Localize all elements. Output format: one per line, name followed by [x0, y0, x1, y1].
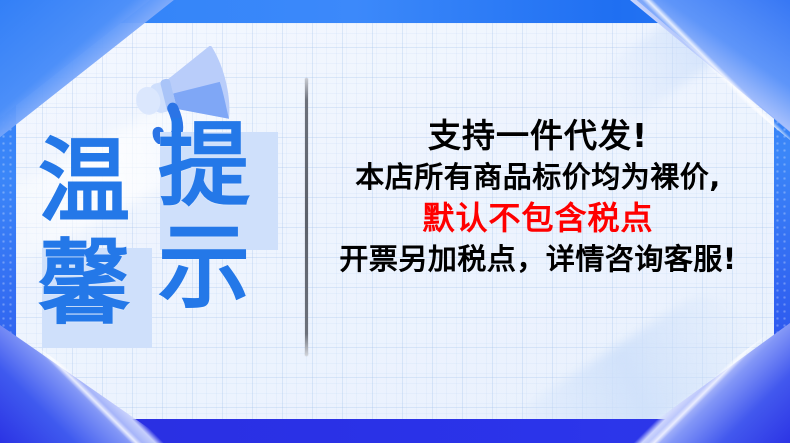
headline-group: 温 提 馨 示	[36, 120, 292, 352]
notice-line-invoice-contact: 开票另加税点，详情咨询客服!	[318, 239, 758, 279]
frame-left-rail	[0, 0, 16, 443]
frame-top-bar	[0, 0, 790, 23]
vertical-divider	[305, 78, 308, 356]
headline-char-shi: 示	[158, 222, 250, 314]
notice-line-base-price: 本店所有商品标价均为裸价,	[318, 157, 758, 197]
headline-char-xin-text: 馨	[38, 230, 130, 337]
headline-char-ti-text: 提	[158, 112, 250, 219]
frame-bottom-bar	[0, 419, 790, 443]
notice-line-dropship: 支持一件代发!	[318, 115, 758, 157]
headline-char-xin: 馨	[38, 238, 130, 330]
headline-char-shi-text: 示	[158, 214, 250, 321]
notice-text-block: 支持一件代发! 本店所有商品标价均为裸价, 默认不包含税点 开票另加税点，详情咨…	[318, 115, 758, 279]
headline-char-wen: 温	[38, 136, 130, 228]
headline-char-wen-text: 温	[38, 128, 130, 235]
notice-line-no-tax-included: 默认不包含税点	[318, 197, 758, 239]
notice-banner: 温 提 馨 示 支持一件代发! 本店所有商品标价均为裸价, 默认不包含税点 开票…	[0, 0, 790, 443]
headline-char-ti: 提	[158, 120, 250, 212]
frame-right-rail	[774, 0, 790, 443]
